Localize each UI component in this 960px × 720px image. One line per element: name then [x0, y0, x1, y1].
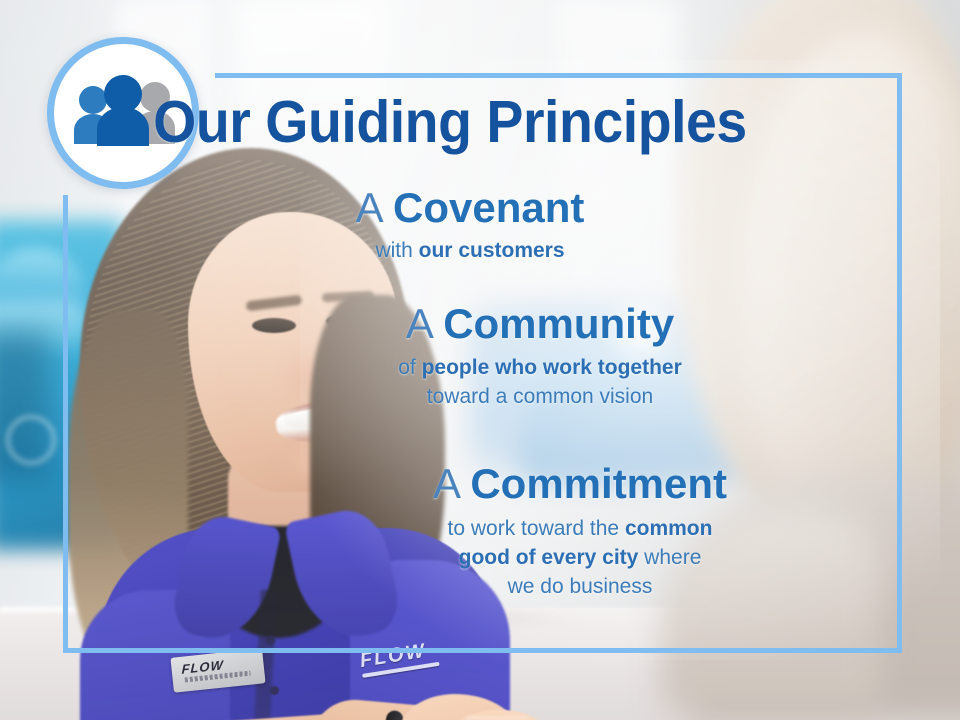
principle-covenant: A Covenant with our customers	[160, 186, 780, 266]
principle-2-sub-bold: people who work together	[422, 356, 682, 379]
principle-3-sub-line-3: we do business	[250, 573, 910, 602]
principle-2-subtext: of people who work together toward a com…	[200, 354, 880, 412]
copy-block: Our Guiding Principles A Covenant with o…	[0, 0, 960, 720]
principle-2-sub-plain: of	[398, 356, 421, 379]
principle-3-sub-plain-b: where	[638, 546, 701, 569]
principle-2-sub-line-2: toward a common vision	[200, 383, 880, 412]
principle-3-sub-line-1: to work toward the common	[250, 515, 910, 544]
principle-3-keyword: Commitment	[470, 460, 727, 507]
principle-3-sub-bold-a: common	[625, 517, 713, 540]
principle-1-sub-plain: with	[375, 239, 418, 262]
principle-1-keyword: Covenant	[393, 184, 584, 231]
principle-3-subtext: to work toward the common good of every …	[250, 515, 910, 602]
principle-3-sub-line-2: good of every city where	[250, 544, 910, 573]
principle-1-lead: A	[356, 184, 382, 231]
principle-3-lead: A	[433, 460, 459, 507]
principle-2-heading: A Community	[200, 302, 880, 346]
principle-commitment: A Commitment to work toward the common g…	[250, 462, 910, 602]
principle-community: A Community of people who work together …	[200, 302, 880, 412]
principle-3-heading: A Commitment	[250, 462, 910, 506]
principle-2-sub-line-1: of people who work together	[200, 354, 880, 383]
principle-2-keyword: Community	[443, 300, 674, 347]
page-title: Our Guiding Principles	[27, 93, 873, 152]
principle-3-sub-bold-b: good of every city	[459, 546, 639, 569]
guiding-principles-graphic: FLOW FLOW	[0, 0, 960, 720]
principle-2-lead: A	[406, 300, 432, 347]
principle-1-heading: A Covenant	[160, 186, 780, 230]
principle-3-sub-plain-a: to work toward the	[448, 517, 625, 540]
principle-1-sub-bold: our customers	[419, 239, 565, 262]
principle-1-subtext: with our customers	[160, 237, 780, 266]
